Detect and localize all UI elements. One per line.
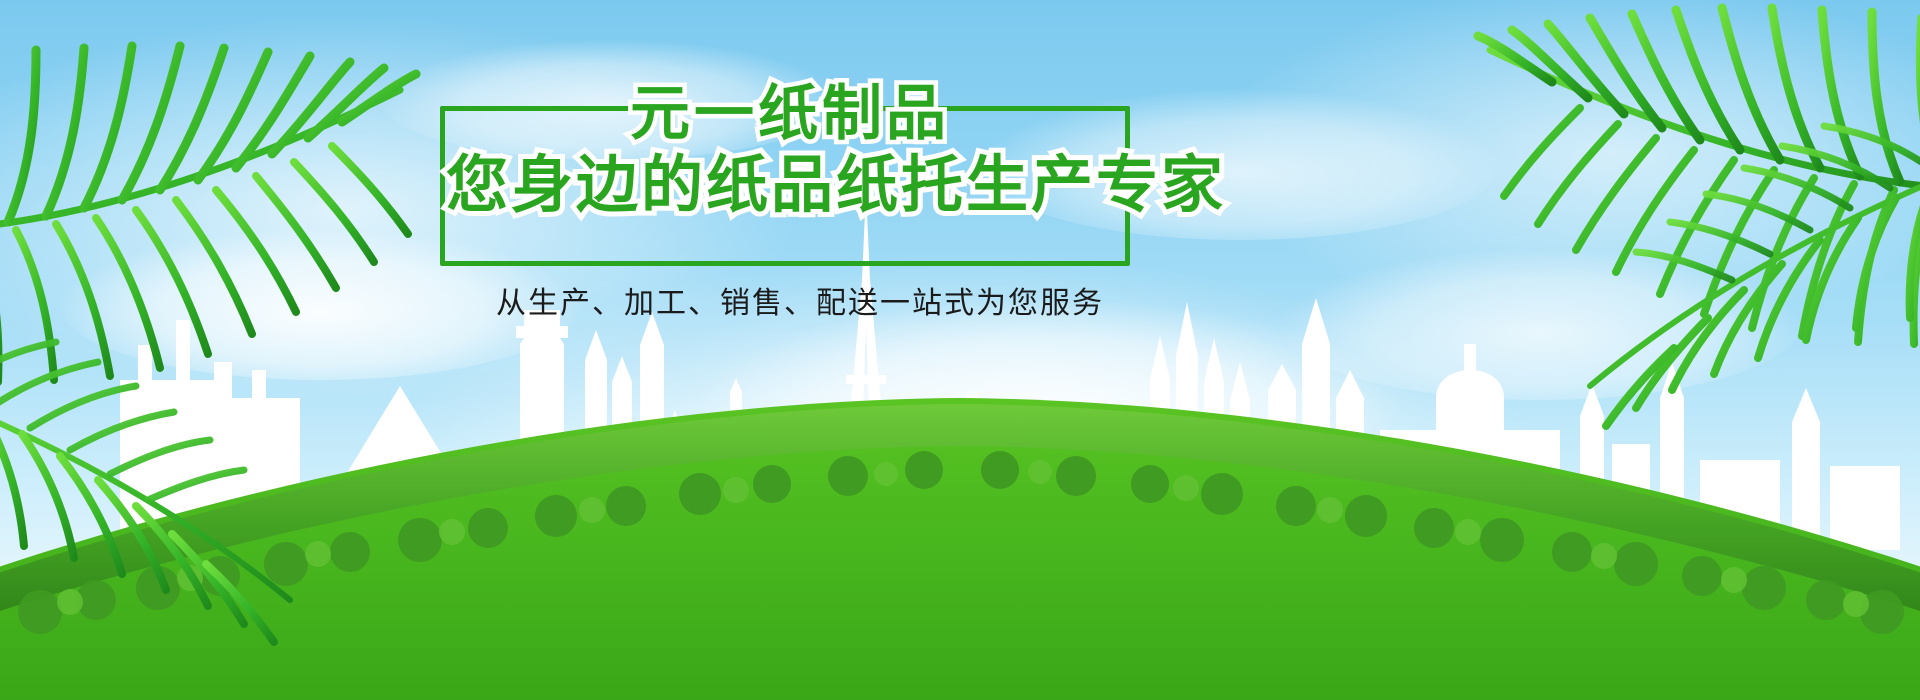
subtitle: 从生产、加工、销售、配送一站式为您服务 [440, 278, 1160, 322]
hero-banner: 元一纸制品 您身边的纸品纸托生产专家 从生产、加工、销售、配送一站式为您服务 [0, 0, 1920, 700]
page-title: 您身边的纸品纸托生产专家 [446, 154, 1154, 216]
headline-block: 元一纸制品 您身边的纸品纸托生产专家 从生产、加工、销售、配送一站式为您服务 [440, 78, 1160, 298]
brand-title: 元一纸制品 [630, 84, 950, 144]
